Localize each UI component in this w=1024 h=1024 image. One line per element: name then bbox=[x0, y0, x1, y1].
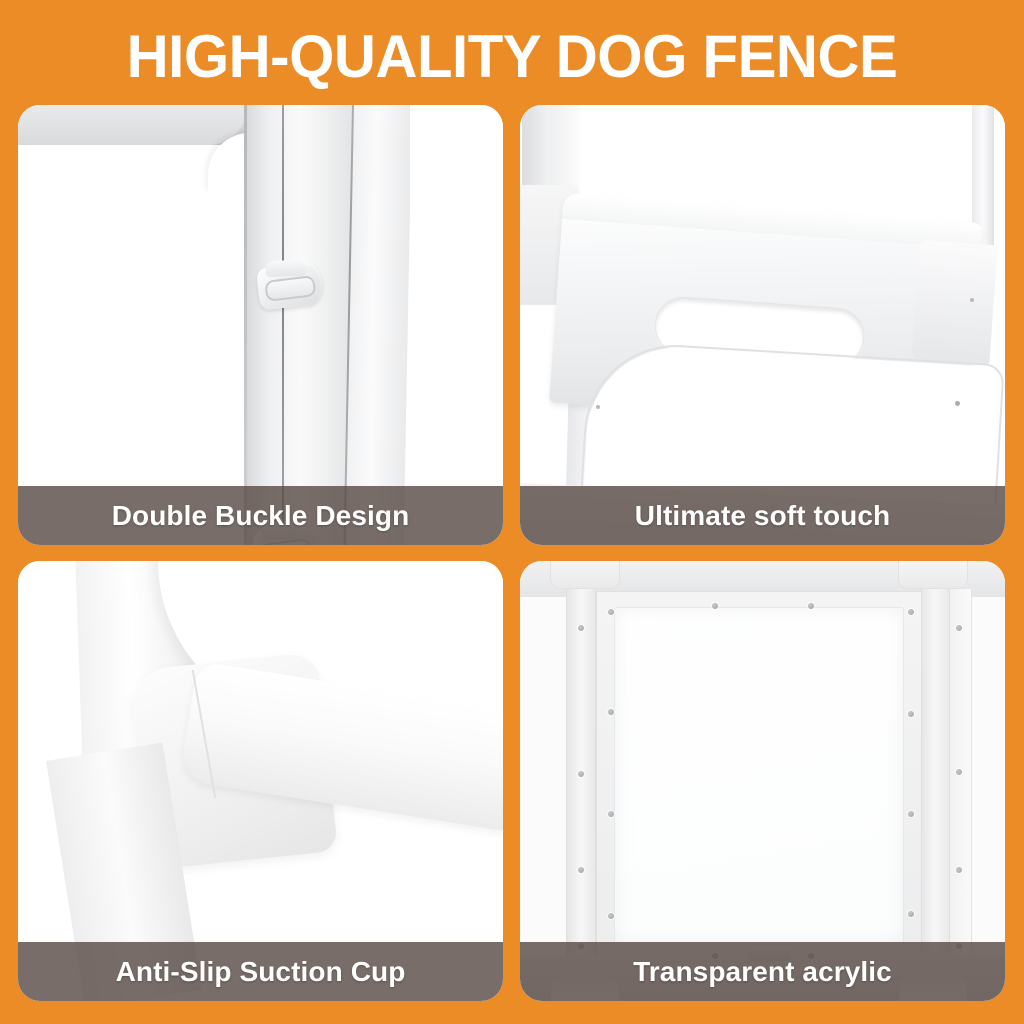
card-caption: Anti-Slip Suction Cup bbox=[18, 942, 503, 1001]
screw-dot-icon bbox=[578, 625, 584, 631]
card-caption: Double Buckle Design bbox=[18, 486, 503, 545]
screw-dot-icon bbox=[908, 609, 914, 615]
card-caption: Transparent acrylic bbox=[520, 942, 1005, 1001]
fence-left-frame bbox=[18, 105, 248, 145]
feature-card-double-buckle-design[interactable]: Double Buckle Design bbox=[18, 105, 503, 545]
fence-post-edge bbox=[244, 105, 247, 545]
screw-dot-icon bbox=[608, 913, 614, 919]
screw-dot-icon bbox=[956, 625, 962, 631]
product-photo-soft-touch bbox=[520, 105, 1005, 545]
screw-dot-icon bbox=[608, 811, 614, 817]
screw-dot-icon bbox=[908, 811, 914, 817]
card-caption: Ultimate soft touch bbox=[520, 486, 1005, 545]
screw-dot-icon bbox=[970, 298, 974, 302]
fence-top-cap-right bbox=[898, 561, 968, 589]
panel-seam-line bbox=[282, 105, 284, 545]
transparent-acrylic-sheet bbox=[614, 607, 904, 945]
feature-card-anti-slip-suction-cup[interactable]: Anti-Slip Suction Cup bbox=[18, 561, 503, 1001]
fence-top-cap-left bbox=[550, 561, 620, 589]
feature-card-transparent-acrylic[interactable]: Transparent acrylic bbox=[520, 561, 1005, 1001]
screw-dot-icon bbox=[578, 771, 584, 777]
screw-dot-icon bbox=[908, 711, 914, 717]
product-photo-suction-cup bbox=[18, 561, 503, 1001]
screw-dot-icon bbox=[596, 405, 600, 409]
product-feature-collage: HIGH-QUALITY DOG FENCE Double Buckle Des… bbox=[0, 0, 1024, 1024]
screw-dot-icon bbox=[808, 603, 814, 609]
screw-dot-icon bbox=[712, 603, 718, 609]
page-title: HIGH-QUALITY DOG FENCE bbox=[15, 26, 1008, 88]
product-photo-double-buckle bbox=[18, 105, 503, 545]
fence-stile-right-outer bbox=[950, 589, 972, 963]
photo-backdrop bbox=[18, 145, 248, 545]
screw-dot-icon bbox=[956, 769, 962, 775]
screw-dot-icon bbox=[908, 911, 914, 917]
product-photo-acrylic bbox=[520, 561, 1005, 1001]
screw-dot-icon bbox=[578, 867, 584, 873]
screw-dot-icon bbox=[955, 401, 960, 406]
photo-backdrop-right bbox=[410, 105, 503, 545]
screw-dot-icon bbox=[956, 867, 962, 873]
fence-stile-right bbox=[920, 589, 950, 963]
feature-card-grid: Double Buckle Design bbox=[18, 105, 1006, 1003]
screw-dot-icon bbox=[608, 709, 614, 715]
fence-adjacent-post bbox=[346, 105, 412, 545]
feature-card-ultimate-soft-touch[interactable]: Ultimate soft touch bbox=[520, 105, 1005, 545]
fence-rail-end-cap bbox=[911, 240, 997, 365]
screw-dot-icon bbox=[608, 609, 614, 615]
